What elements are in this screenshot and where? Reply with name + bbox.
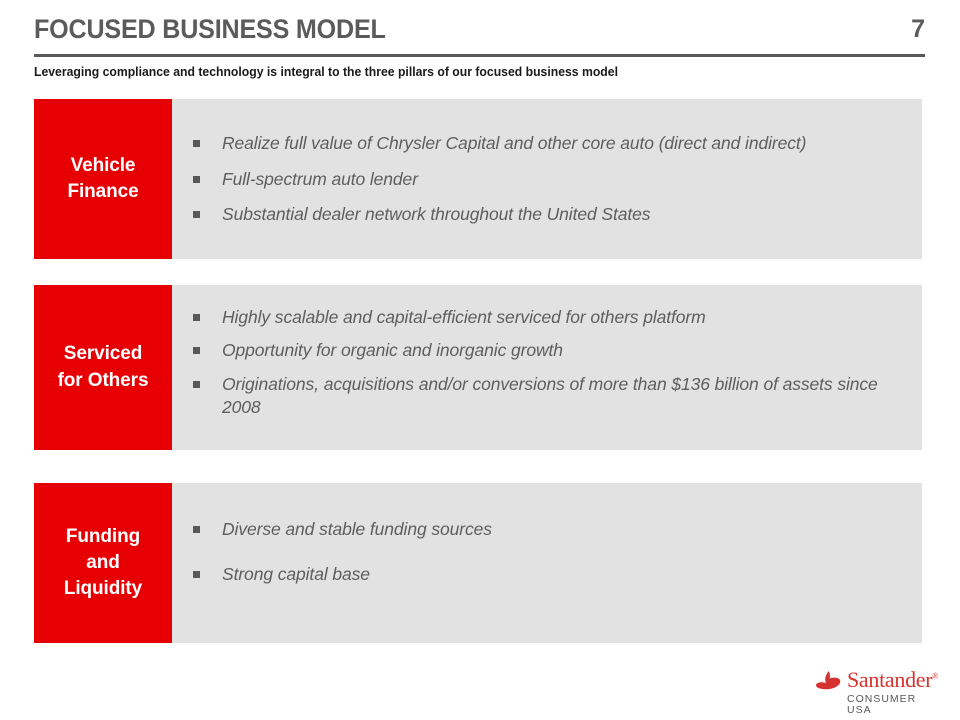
square-bullet-icon	[193, 140, 200, 147]
bullet-list: Realize full value of Chrysler Capital a…	[178, 132, 922, 226]
pillar-label-funding-and-liquidity: Funding and Liquidity	[34, 483, 172, 643]
list-item-text: Opportunity for organic and inorganic gr…	[222, 340, 563, 360]
list-item-text: Highly scalable and capital-efficient se…	[222, 307, 706, 327]
bullet-list: Diverse and stable funding sources Stron…	[178, 518, 922, 608]
list-item-text: Strong capital base	[222, 564, 370, 584]
square-bullet-icon	[193, 176, 200, 183]
pillar-row-funding-and-liquidity: Funding and Liquidity Diverse and stable…	[34, 483, 922, 643]
square-bullet-icon	[193, 526, 200, 533]
list-item: Realize full value of Chrysler Capital a…	[178, 132, 922, 155]
square-bullet-icon	[193, 381, 200, 388]
logo-tagline: CONSUMER USA	[847, 694, 935, 715]
square-bullet-icon	[193, 314, 200, 321]
list-item: Strong capital base	[178, 563, 922, 586]
square-bullet-icon	[193, 211, 200, 218]
slide-number: 7	[911, 17, 925, 42]
registered-trademark-icon: ®	[932, 672, 938, 681]
page-title: FOCUSED BUSINESS MODEL	[34, 16, 386, 43]
pillar-row-serviced-for-others: Serviced for Others Highly scalable and …	[34, 285, 922, 450]
list-item: Full-spectrum auto lender	[178, 168, 922, 191]
list-item-text: Substantial dealer network throughout th…	[222, 204, 650, 224]
logo-primary-row: Santander®	[815, 669, 935, 691]
pillar-body-funding-and-liquidity: Diverse and stable funding sources Stron…	[172, 483, 922, 643]
pillar-body-serviced-for-others: Highly scalable and capital-efficient se…	[172, 285, 922, 450]
santander-flame-icon	[815, 670, 841, 690]
pillar-label-serviced-for-others: Serviced for Others	[34, 285, 172, 450]
pillar-body-vehicle-finance: Realize full value of Chrysler Capital a…	[172, 99, 922, 259]
page-subtitle: Leveraging compliance and technology is …	[34, 64, 618, 79]
square-bullet-icon	[193, 347, 200, 354]
logo-wordmark: Santander®	[847, 669, 938, 691]
list-item-text: Diverse and stable funding sources	[222, 519, 492, 539]
list-item-text: Realize full value of Chrysler Capital a…	[222, 133, 806, 153]
pillar-row-vehicle-finance: Vehicle Finance Realize full value of Ch…	[34, 99, 922, 259]
list-item: Opportunity for organic and inorganic gr…	[178, 339, 922, 362]
list-item-text: Full-spectrum auto lender	[222, 169, 418, 189]
pillar-label-vehicle-finance: Vehicle Finance	[34, 99, 172, 259]
list-item-text: Originations, acquisitions and/or conver…	[222, 374, 878, 417]
logo-wordmark-text: Santander	[847, 667, 932, 692]
list-item: Originations, acquisitions and/or conver…	[178, 373, 922, 419]
list-item: Substantial dealer network throughout th…	[178, 203, 922, 226]
list-item: Diverse and stable funding sources	[178, 518, 922, 541]
bullet-list: Highly scalable and capital-efficient se…	[178, 306, 922, 430]
santander-consumer-usa-logo: Santander® CONSUMER USA	[815, 669, 935, 711]
square-bullet-icon	[193, 571, 200, 578]
list-item: Highly scalable and capital-efficient se…	[178, 306, 922, 329]
title-divider	[34, 54, 925, 57]
